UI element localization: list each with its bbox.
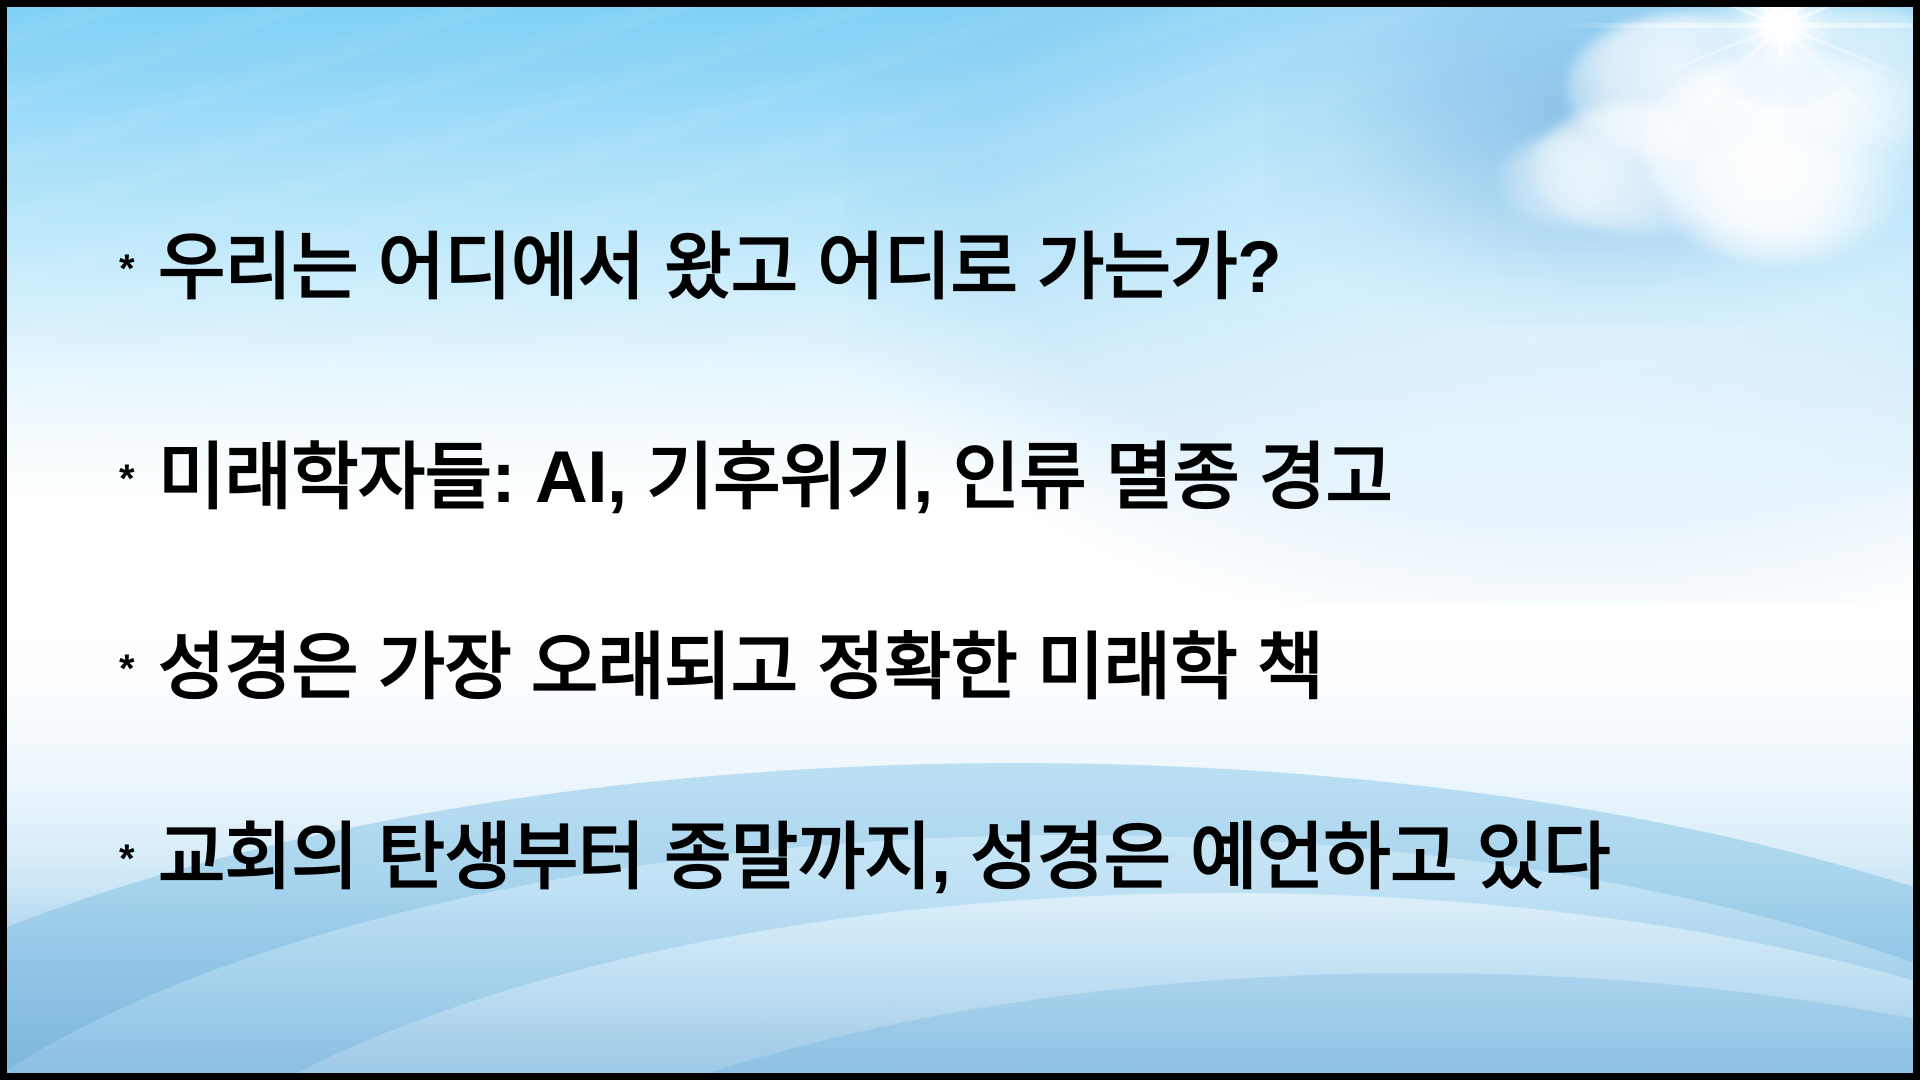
bullet-marker-icon: *: [119, 249, 134, 289]
bullet-line-1: * 우리는 어디에서 왔고 어디로 가는가?: [119, 229, 1281, 306]
bullet-marker-icon: *: [119, 459, 134, 499]
bullet-line-3: * 성경은 가장 오래되고 정확한 미래학 책: [119, 629, 1324, 706]
bullet-text-1: 우리는 어디에서 왔고 어디로 가는가?: [158, 229, 1281, 306]
bullet-line-4: * 교회의 탄생부터 종말까지, 성경은 예언하고 있다: [119, 819, 1610, 896]
slide-canvas: * 우리는 어디에서 왔고 어디로 가는가? * 미래학자들: AI, 기후위기…: [7, 7, 1913, 1073]
slide-body-text: * 우리는 어디에서 왔고 어디로 가는가? * 미래학자들: AI, 기후위기…: [7, 7, 1913, 1073]
bullet-text-2: 미래학자들: AI, 기후위기, 인류 멸종 경고: [158, 439, 1392, 516]
bullet-line-2: * 미래학자들: AI, 기후위기, 인류 멸종 경고: [119, 439, 1392, 516]
bullet-marker-icon: *: [119, 649, 134, 689]
presentation-slide: * 우리는 어디에서 왔고 어디로 가는가? * 미래학자들: AI, 기후위기…: [0, 0, 1920, 1080]
bullet-text-3: 성경은 가장 오래되고 정확한 미래학 책: [158, 629, 1323, 706]
bullet-marker-icon: *: [119, 839, 134, 879]
bullet-text-4: 교회의 탄생부터 종말까지, 성경은 예언하고 있다: [158, 819, 1610, 896]
